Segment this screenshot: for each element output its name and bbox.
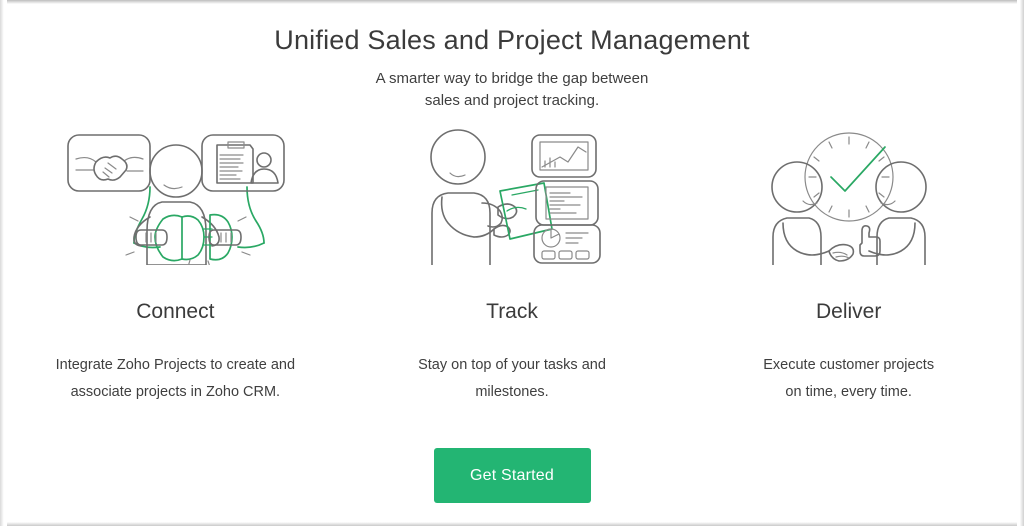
deliver-handshake-clock-icon — [759, 125, 939, 265]
page-title: Unified Sales and Project Management — [7, 22, 1017, 58]
page-header: Unified Sales and Project Management A s… — [7, 22, 1017, 112]
feature-desc-deliver-line-1: Execute customer projects — [763, 357, 934, 373]
page-subtitle: A smarter way to bridge the gap between … — [7, 68, 1017, 112]
page-subtitle-line-1: A smarter way to bridge the gap between — [376, 70, 649, 87]
feature-desc-connect-line-1: Integrate Zoho Projects to create and — [56, 357, 295, 373]
feature-desc-track: Stay on top of your tasks and milestones… — [362, 352, 662, 406]
feature-connect: Connect Integrate Zoho Projects to creat… — [7, 125, 344, 406]
get-started-button[interactable]: Get Started — [434, 448, 591, 503]
page-canvas: Unified Sales and Project Management A s… — [7, 7, 1017, 519]
page-subtitle-line-2: sales and project tracking. — [425, 92, 599, 109]
feature-list: Connect Integrate Zoho Projects to creat… — [7, 125, 1017, 406]
connect-plug-icon — [50, 125, 300, 265]
window-frame: Unified Sales and Project Management A s… — [0, 0, 1024, 526]
track-tablet-icon — [412, 125, 612, 265]
feature-desc-track-line-2: milestones. — [475, 384, 548, 400]
feature-desc-deliver: Execute customer projects on time, every… — [699, 352, 999, 406]
feature-title-deliver: Deliver — [816, 299, 881, 325]
feature-deliver: Deliver Execute customer projects on tim… — [680, 125, 1017, 406]
cta-container: Get Started — [7, 448, 1017, 503]
feature-title-track: Track — [486, 299, 538, 325]
feature-desc-connect-line-2: associate projects in Zoho CRM. — [71, 384, 281, 400]
feature-desc-deliver-line-2: on time, every time. — [785, 384, 912, 400]
feature-track: Track Stay on top of your tasks and mile… — [344, 125, 681, 406]
feature-desc-track-line-1: Stay on top of your tasks and — [418, 357, 606, 373]
feature-desc-connect: Integrate Zoho Projects to create and as… — [25, 352, 325, 406]
feature-title-connect: Connect — [136, 299, 214, 325]
